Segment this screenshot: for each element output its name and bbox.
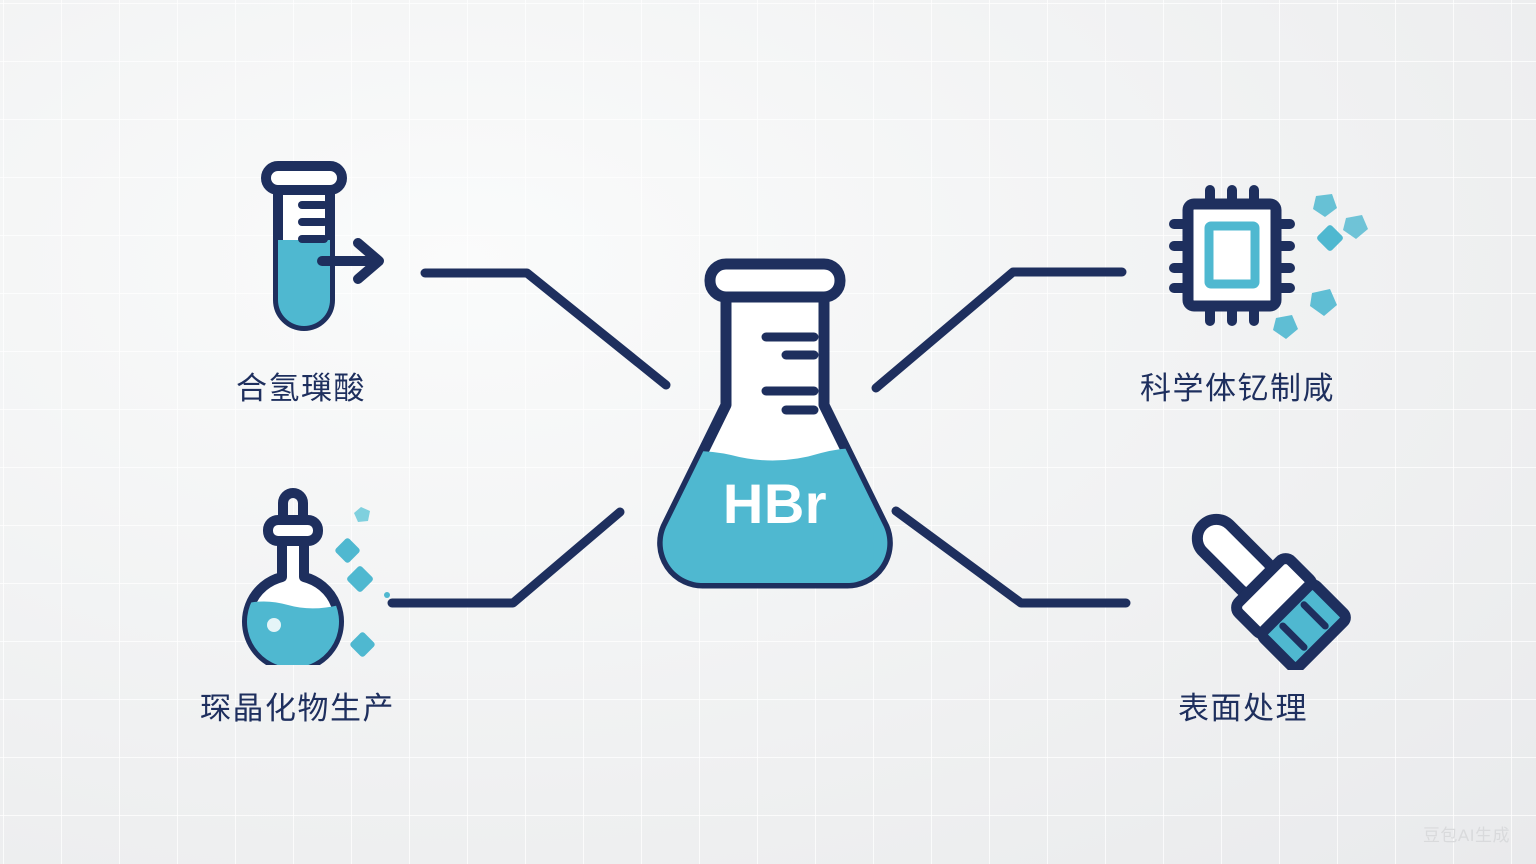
test-tube-rim bbox=[266, 166, 342, 190]
round-bottom-flask-sparkle-icon bbox=[240, 485, 390, 665]
flask-formula-text: HBr bbox=[723, 472, 827, 535]
sparkle-group bbox=[334, 507, 390, 658]
node-label-crystal: 琛晶化物生产 bbox=[200, 692, 395, 726]
microchip-icon bbox=[1160, 178, 1385, 353]
paint-brush-icon bbox=[1168, 500, 1358, 670]
flask-rim bbox=[710, 264, 840, 297]
chip-core bbox=[1209, 226, 1255, 284]
connector-bottom-left bbox=[392, 512, 620, 603]
connector-top-right bbox=[876, 272, 1122, 388]
center-flask-icon: HBr bbox=[646, 255, 904, 595]
node-label-electronics: 科学体钇制咸 bbox=[1140, 372, 1335, 406]
connector-bottom-right bbox=[896, 511, 1126, 603]
watermark-label: 豆包AI生成 bbox=[1423, 821, 1510, 846]
round-flask-collar bbox=[268, 520, 318, 541]
node-label-surface: 表面处理 bbox=[1178, 692, 1308, 726]
node-label-synthesis: 合氢璅酸 bbox=[236, 372, 366, 406]
diagram-canvas: HBr bbox=[0, 0, 1536, 864]
test-tube-arrow-icon bbox=[252, 160, 402, 340]
connector-top-left bbox=[425, 273, 666, 385]
